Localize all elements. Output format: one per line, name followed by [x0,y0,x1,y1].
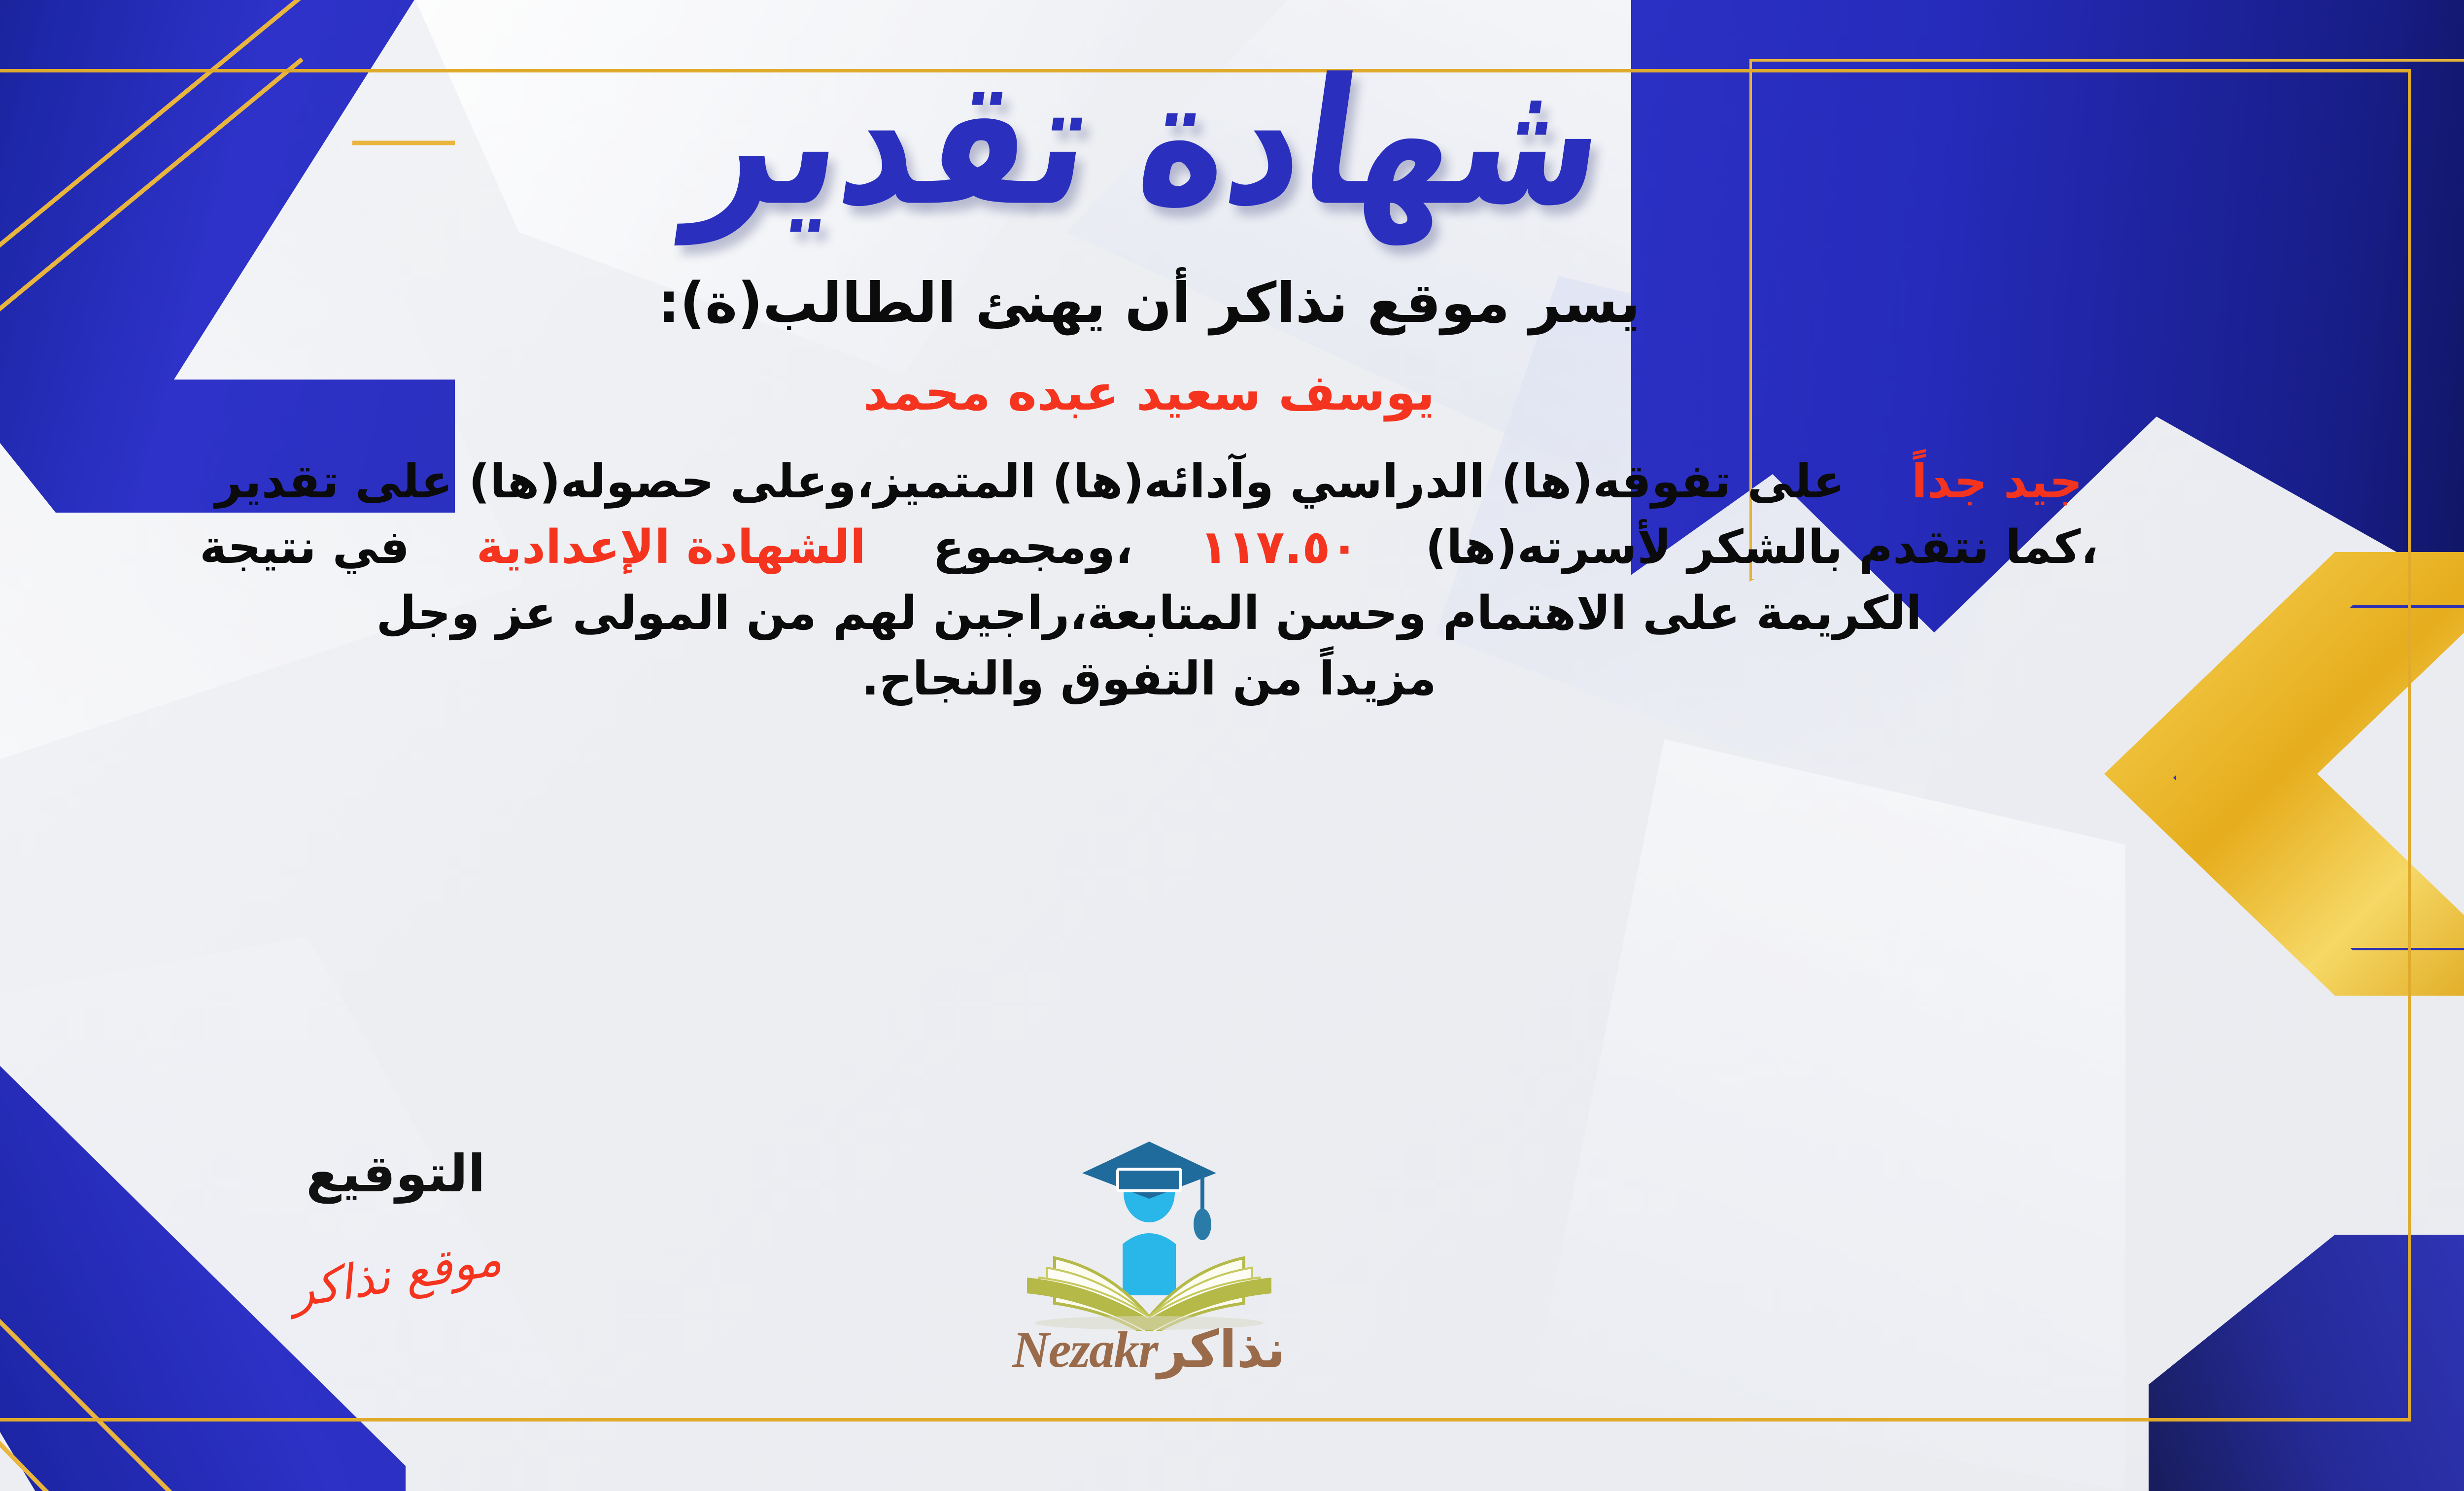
graduate-on-open-book-icon [992,1134,1307,1331]
logo-arabic-name: نذاكر [1158,1319,1286,1379]
certificate-name-value: الشهادة الإعدادية [477,520,866,574]
body-line-2-head: في نتيجة [200,520,410,574]
body-line-4: مزيداً من التفوق والنجاح. [26,646,2273,712]
body-line-2-mid: ،ومجموع [933,520,1133,574]
logo-wordmark: نذاكرNezakr [1012,1319,1285,1379]
body-line-3: الكريمة على الاهتمام وحسن المتابعة،راجين… [26,581,2273,646]
congratulation-line: يسر موقع نذاكر أن يهنئ الطالب(ة): [658,271,1641,335]
body-line-2: ،كما نتقدم بالشكر لأسرته(ها) ١١٧.٥٠ ،ومج… [26,515,2273,580]
student-name: يوسف سعيد عبده محمد [863,364,1435,421]
logo-latin-name: Nezakr [1012,1320,1157,1379]
certificate-body-paragraph: جيد جداً على تفوقه(ها) الدراسي وآدائه(ها… [26,449,2273,712]
body-line-1: جيد جداً على تفوقه(ها) الدراسي وآدائه(ها… [26,449,2273,515]
certificate-page: شهادة تقدير يسر موقع نذاكر أن يهنئ الطال… [0,0,2464,1491]
page-title: شهادة تقدير [683,56,1615,230]
body-line-1-text: على تفوقه(ها) الدراسي وآدائه(ها) المتميز… [215,455,1845,509]
grade-value: جيد جداً [1912,455,2083,509]
site-logo: نذاكرNezakr [947,1134,1351,1379]
signature-area: التوقيع موقع نذاكر [208,1144,583,1302]
total-score-value: ١١٧.٥٠ [1199,520,1359,574]
body-line-2-tail: ،كما نتقدم بالشكر لأسرته(ها) [1425,520,2098,574]
signature-label: التوقيع [208,1144,583,1204]
